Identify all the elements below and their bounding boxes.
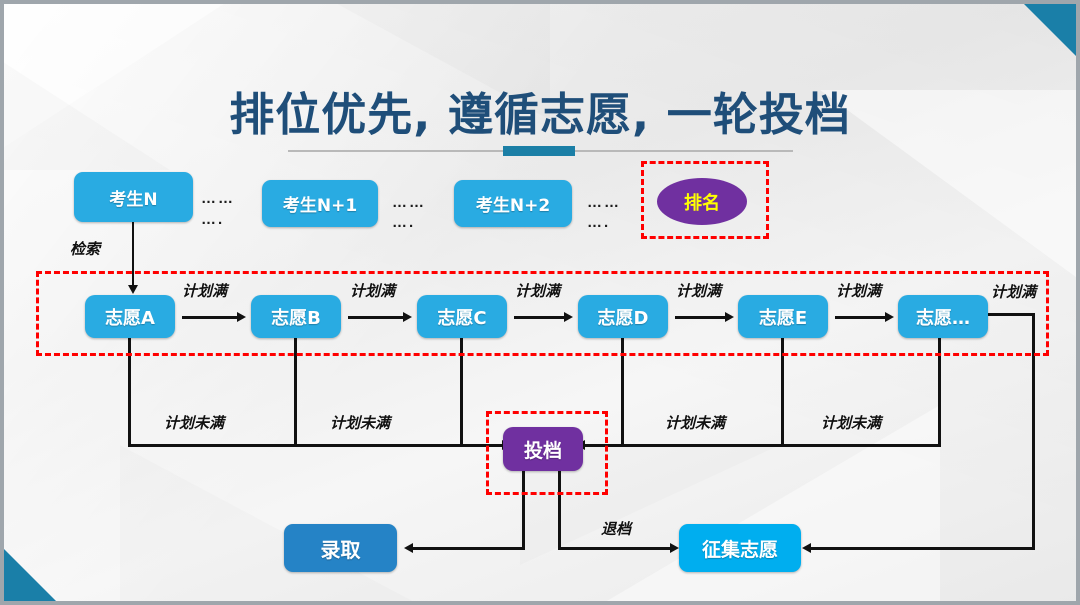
search-label: 检索 bbox=[70, 238, 100, 259]
slide-edge-bottom bbox=[0, 601, 1080, 605]
reject-connector-line bbox=[558, 547, 673, 550]
volunteer-box-c[interactable]: 志愿C bbox=[417, 295, 507, 338]
volunteer-box-b[interactable]: 志愿B bbox=[251, 295, 341, 338]
full-label-2: 计划满 bbox=[350, 280, 395, 301]
full-label-3: 计划满 bbox=[515, 280, 560, 301]
title-divider-accent bbox=[503, 146, 575, 156]
notfull-label-1: 计划未满 bbox=[164, 412, 224, 433]
rank-badge[interactable]: 排名 bbox=[657, 178, 747, 225]
reject-connector-arrowhead bbox=[670, 543, 679, 553]
volunteer-box-more[interactable]: 志愿… bbox=[898, 295, 988, 338]
full-label-1: 计划满 bbox=[182, 280, 227, 301]
volunteer-box-e[interactable]: 志愿E bbox=[738, 295, 828, 338]
candidate-separator-dots-1-top: …… bbox=[201, 192, 235, 205]
notfull-bus-right bbox=[578, 444, 941, 447]
candidate-box-n[interactable]: 考生N bbox=[74, 172, 193, 222]
overflow-line-bottom bbox=[806, 547, 1035, 550]
top-right-corner-triangle bbox=[1020, 0, 1080, 60]
volunteer-box-a[interactable]: 志愿A bbox=[85, 295, 175, 338]
admit-box[interactable]: 录取 bbox=[284, 524, 397, 572]
overflow-arrowhead bbox=[802, 543, 811, 553]
notfull-bus-left bbox=[128, 444, 505, 447]
background-facet bbox=[600, 405, 940, 605]
reject-label: 退档 bbox=[601, 518, 631, 539]
candidate-separator-dots-3-top: …… bbox=[587, 196, 621, 209]
full-label-4: 计划满 bbox=[676, 280, 721, 301]
bottom-left-corner-triangle bbox=[0, 545, 60, 605]
slide-canvas: 排位优先, 遵循志愿, 一轮投档 考生N 考生N+1 考生N+2 …… …. …… bbox=[0, 0, 1080, 605]
notfull-label-2: 计划未满 bbox=[330, 412, 390, 433]
notfull-label-3: 计划未满 bbox=[665, 412, 725, 433]
candidate-separator-dots-2-top: …… bbox=[392, 196, 426, 209]
candidate-separator-dots-2-bottom: …. bbox=[392, 216, 415, 229]
notfull-label-4: 计划未满 bbox=[821, 412, 881, 433]
candidate-box-n2[interactable]: 考生N+2 bbox=[454, 180, 572, 227]
admit-connector-line bbox=[410, 547, 525, 550]
candidate-separator-dots-1-bottom: …. bbox=[201, 213, 224, 226]
candidate-box-n1[interactable]: 考生N+1 bbox=[262, 180, 378, 227]
full-label-5: 计划满 bbox=[836, 280, 881, 301]
candidate-separator-dots-3-bottom: …. bbox=[587, 216, 610, 229]
dispatch-box[interactable]: 投档 bbox=[503, 427, 583, 471]
admit-connector-arrowhead bbox=[404, 543, 413, 553]
slide-edge-top bbox=[0, 0, 1080, 4]
page-title: 排位优先, 遵循志愿, 一轮投档 bbox=[0, 78, 1080, 143]
collect-box[interactable]: 征集志愿 bbox=[679, 524, 801, 572]
full-label-6: 计划满 bbox=[991, 281, 1036, 302]
volunteer-box-d[interactable]: 志愿D bbox=[578, 295, 668, 338]
